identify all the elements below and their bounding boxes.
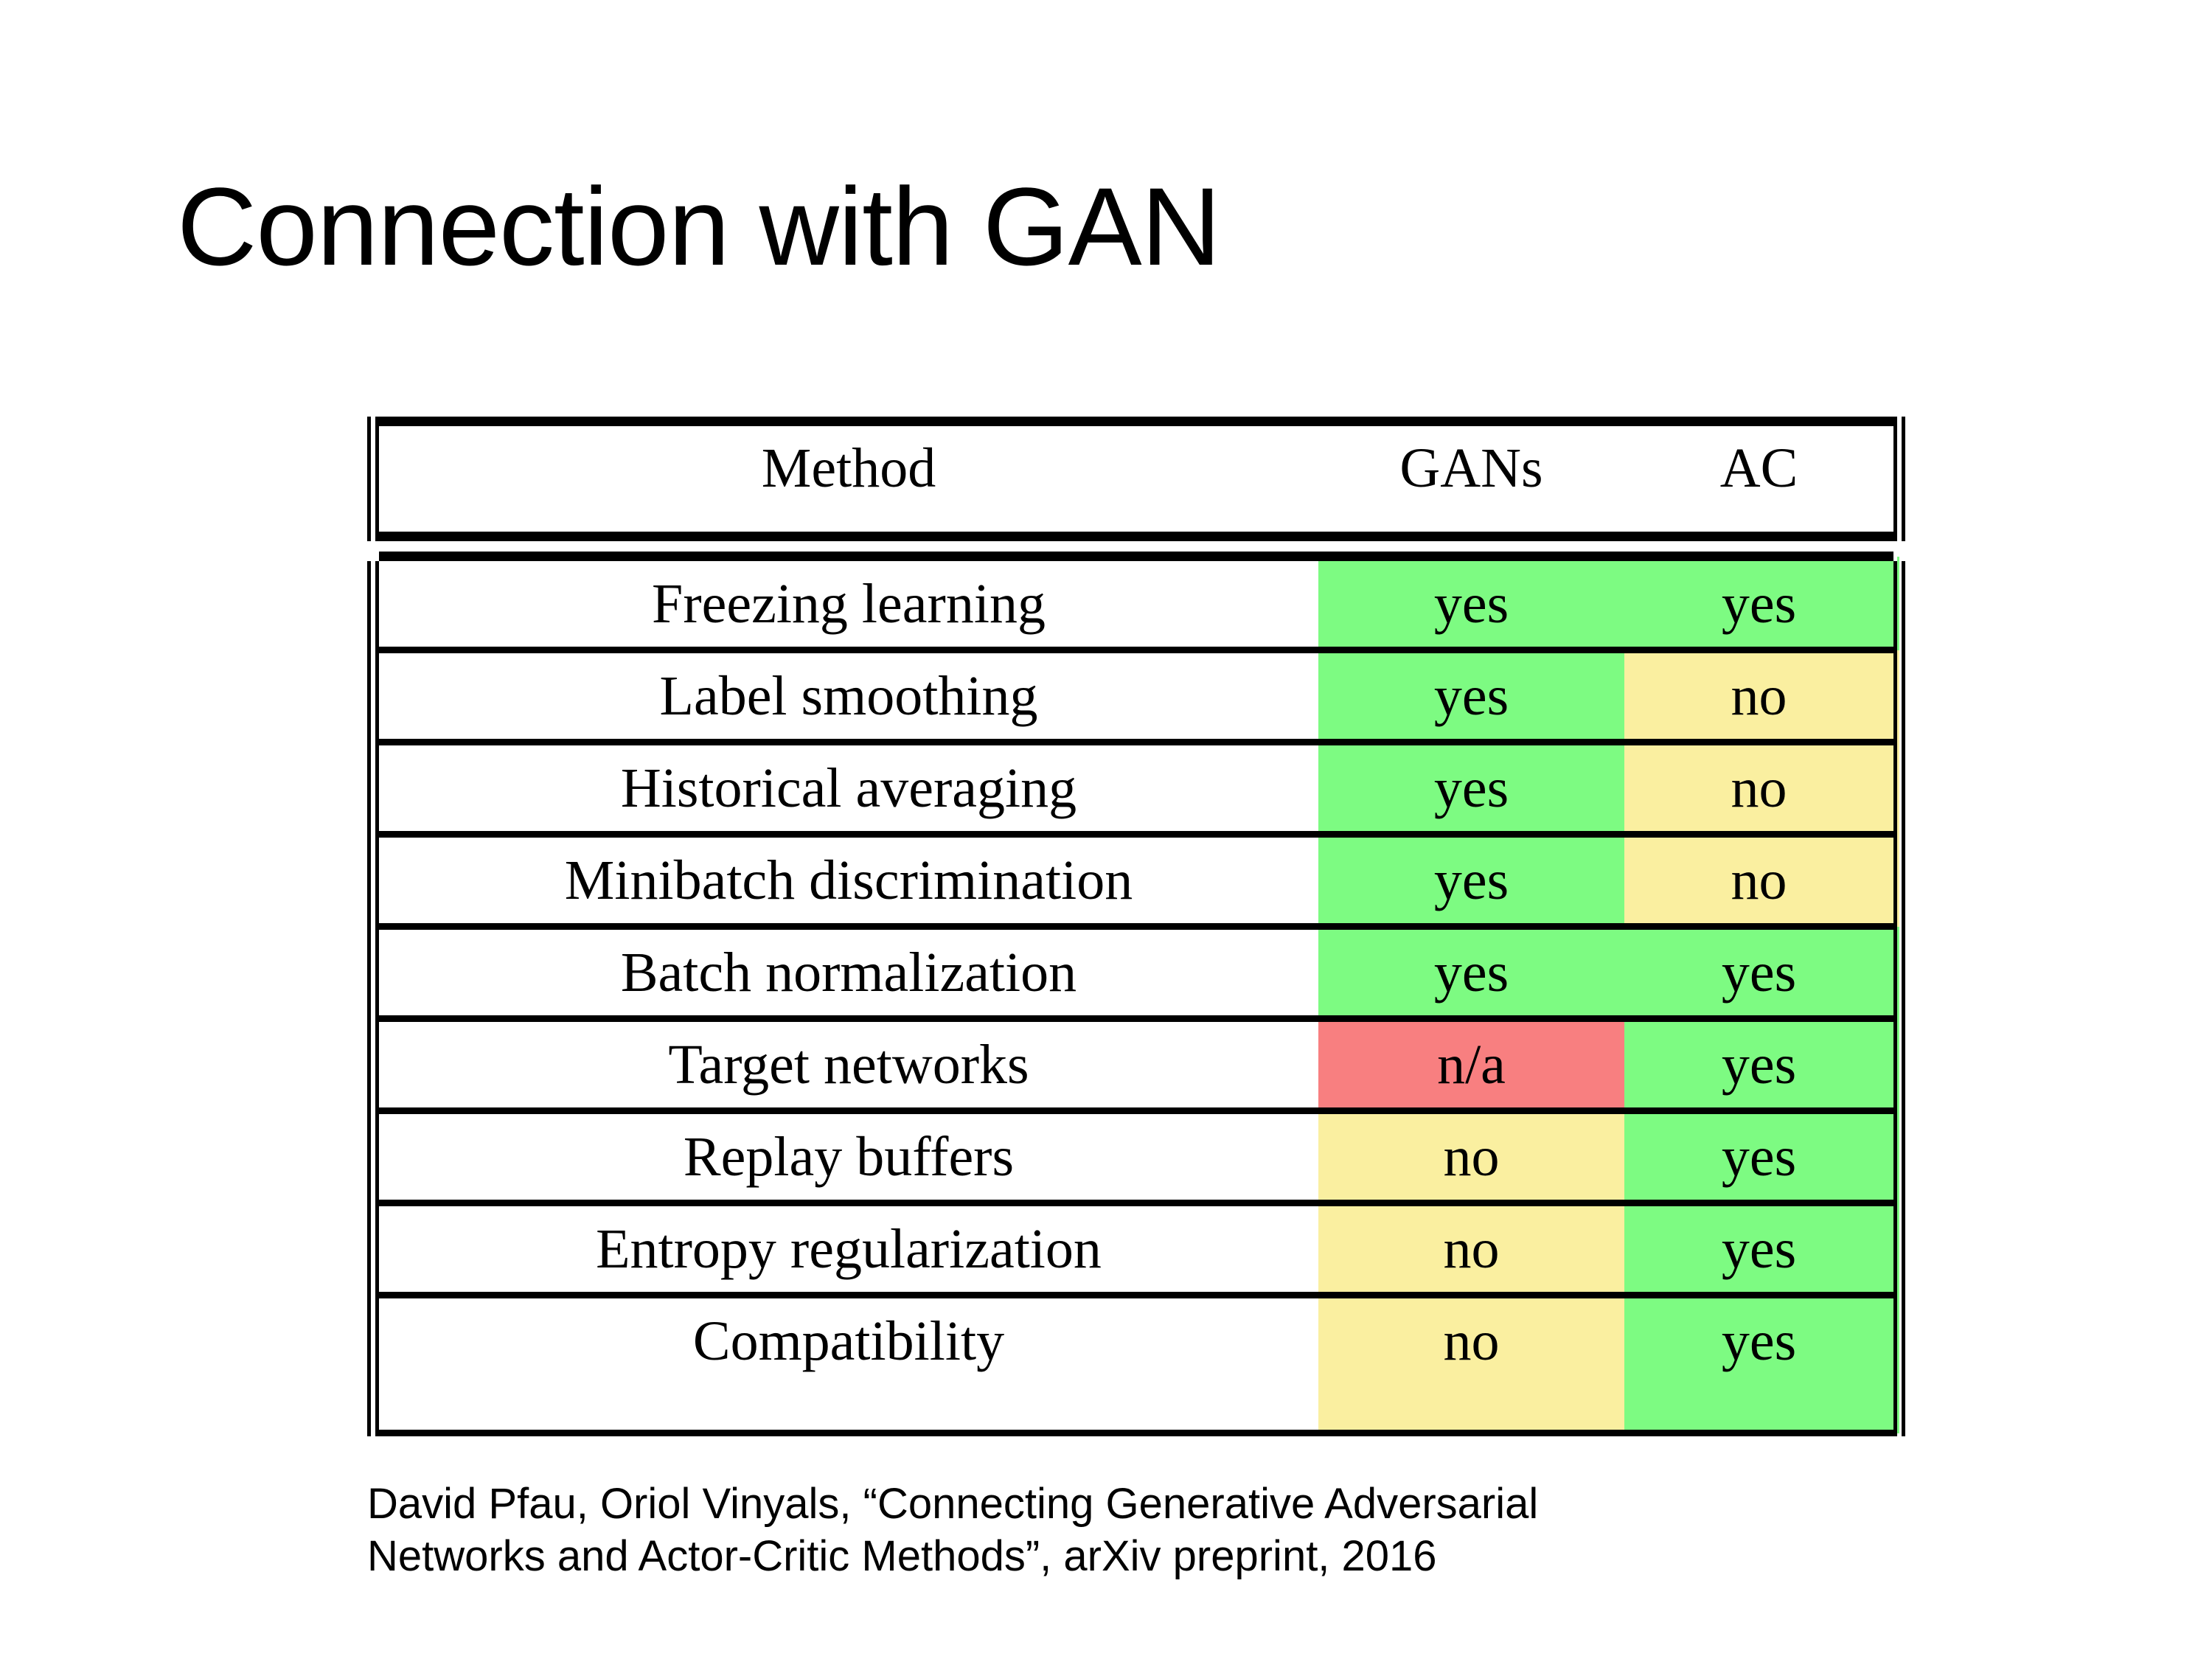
gans-value-cell: n/a — [1318, 1019, 1624, 1111]
citation-line-2: Networks and Actor-Critic Methods”, arXi… — [367, 1531, 1916, 1583]
method-cell: Label smoothing — [373, 650, 1318, 742]
ac-value-cell: yes — [1624, 1203, 1899, 1295]
table-header-row: Method GANs AC — [373, 422, 1899, 537]
table-row: Target networksn/ayes — [373, 1019, 1899, 1111]
method-cell: Target networks — [373, 1019, 1318, 1111]
header-gap-cell-method — [373, 537, 1318, 557]
page-title: Connection with GAN — [177, 171, 1220, 282]
table-body: Freezing learningyesyesLabel smoothingye… — [373, 557, 1899, 1433]
ac-value-cell: no — [1624, 742, 1899, 835]
ac-value-cell: yes — [1624, 927, 1899, 1019]
table-row: Label smoothingyesno — [373, 650, 1899, 742]
ac-value-cell: no — [1624, 835, 1899, 927]
citation-line-1: David Pfau, Oriol Vinyals, “Connecting G… — [367, 1478, 1916, 1531]
table-row: Entropy regularizationnoyes — [373, 1203, 1899, 1295]
method-cell: Historical averaging — [373, 742, 1318, 835]
methods-comparison-table: Method GANs AC Freezing learningyesyesLa… — [367, 417, 1905, 1436]
table-row: Freezing learningyesyes — [373, 557, 1899, 650]
header-gap-cell-gans — [1318, 537, 1624, 557]
ac-value-cell: yes — [1624, 1111, 1899, 1203]
method-cell: Compatibility — [373, 1295, 1318, 1385]
column-header-ac: AC — [1624, 422, 1899, 537]
gans-value-cell: yes — [1318, 742, 1624, 835]
tail-method-cell — [373, 1384, 1318, 1433]
method-cell: Entropy regularization — [373, 1203, 1318, 1295]
gans-value-cell: yes — [1318, 927, 1624, 1019]
ac-value-cell: no — [1624, 650, 1899, 742]
table-row: Compatibilitynoyes — [373, 1295, 1899, 1385]
gans-value-cell: no — [1318, 1111, 1624, 1203]
citation-caption: David Pfau, Oriol Vinyals, “Connecting G… — [367, 1478, 1916, 1583]
gans-value-cell: yes — [1318, 650, 1624, 742]
comparison-table: Method GANs AC Freezing learningyesyesLa… — [367, 417, 1893, 1436]
gans-value-cell: no — [1318, 1203, 1624, 1295]
table-row: Batch normalizationyesyes — [373, 927, 1899, 1019]
method-cell: Replay buffers — [373, 1111, 1318, 1203]
method-cell: Minibatch discrimination — [373, 835, 1318, 927]
ac-value-cell: yes — [1624, 1019, 1899, 1111]
table-row: Replay buffersnoyes — [373, 1111, 1899, 1203]
method-cell: Batch normalization — [373, 927, 1318, 1019]
ac-value-cell: yes — [1624, 1295, 1899, 1385]
method-cell: Freezing learning — [373, 557, 1318, 650]
table-tail-row — [373, 1384, 1899, 1433]
header-gap-cell-ac — [1624, 537, 1899, 557]
column-header-method: Method — [373, 422, 1318, 537]
gans-value-cell: no — [1318, 1295, 1624, 1385]
table-header: Method GANs AC — [373, 422, 1899, 557]
gans-value-cell: yes — [1318, 557, 1624, 650]
table-row: Historical averagingyesno — [373, 742, 1899, 835]
column-header-gans: GANs — [1318, 422, 1624, 537]
table-row: Minibatch discriminationyesno — [373, 835, 1899, 927]
tail-gans-cell — [1318, 1384, 1624, 1433]
header-rule-gap — [373, 537, 1899, 557]
ac-value-cell: yes — [1624, 557, 1899, 650]
tail-ac-cell — [1624, 1384, 1899, 1433]
gans-value-cell: yes — [1318, 835, 1624, 927]
